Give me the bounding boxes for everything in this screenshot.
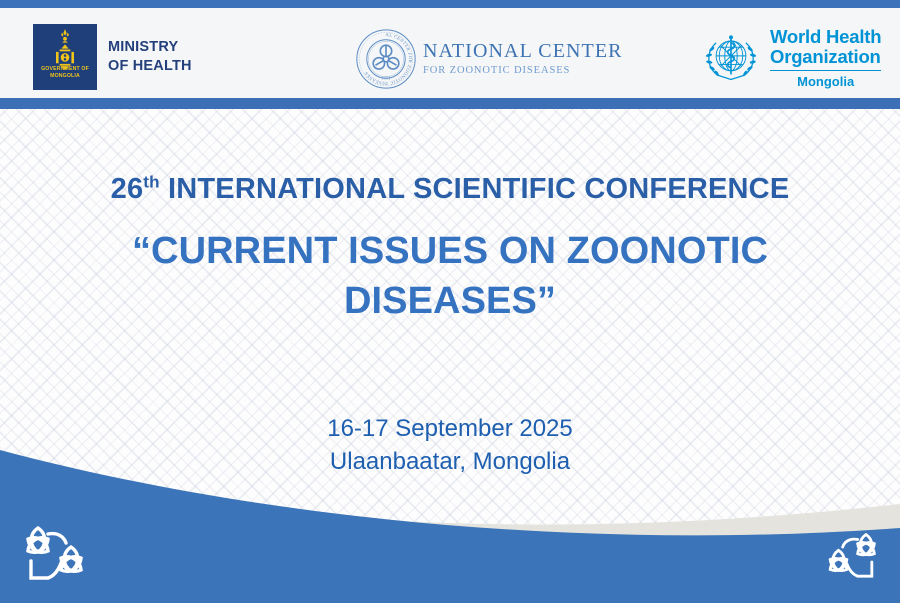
who-country-label: Mongolia — [770, 74, 881, 89]
national-center-logo: NATIONAL CENTER FOR ZOONOTIC DISEASES 19… — [355, 28, 623, 90]
mongolian-knot-ornament-right — [816, 528, 886, 586]
conference-title-text: INTERNATIONAL SCIENTIFIC CONFERENCE — [160, 173, 790, 205]
who-name-block: World Health Organization Mongolia — [770, 27, 881, 89]
ministry-name-line2: OF HEALTH — [108, 57, 192, 76]
header-accent-bar — [0, 98, 900, 109]
headline-block: 26th INTERNATIONAL SCIENTIFIC CONFERENCE… — [0, 173, 900, 326]
who-logo: World Health Organization Mongolia — [700, 27, 881, 90]
national-center-line1: NATIONAL CENTER — [423, 41, 623, 61]
national-center-line2: FOR ZOONOTIC DISEASES — [423, 66, 623, 77]
ministry-name-line1: MINISTRY — [108, 38, 192, 57]
logo-row: GOVERNMENT OF MONGOLIA MINISTRY OF HEALT… — [0, 8, 900, 98]
conference-ordinal: th — [143, 172, 159, 191]
who-divider — [770, 70, 881, 71]
mongolia-government-emblem: GOVERNMENT OF MONGOLIA — [33, 24, 97, 90]
who-name-line1: World Health — [770, 27, 881, 47]
ministry-of-health-name: MINISTRY OF HEALTH — [108, 38, 192, 76]
mongolian-knot-ornament-left — [14, 521, 98, 589]
theme-line2: DISEASES” — [0, 276, 900, 326]
who-un-emblem-icon — [700, 28, 762, 90]
emblem-caption-line1: GOVERNMENT OF — [33, 66, 97, 73]
conference-theme: “CURRENT ISSUES ON ZOONOTIC DISEASES” — [0, 226, 900, 326]
theme-line1: “CURRENT ISSUES ON ZOONOTIC — [0, 226, 900, 276]
emblem-caption-line2: MONGOLIA — [33, 73, 97, 80]
national-center-name: NATIONAL CENTER FOR ZOONOTIC DISEASES — [423, 41, 623, 77]
ministry-of-health-logo: GOVERNMENT OF MONGOLIA MINISTRY OF HEALT… — [33, 24, 192, 90]
bottom-wave-decoration — [0, 430, 900, 603]
conference-number: 26 — [111, 173, 144, 205]
conference-title-slide: GOVERNMENT OF MONGOLIA MINISTRY OF HEALT… — [0, 0, 900, 603]
emblem-caption: GOVERNMENT OF MONGOLIA — [33, 66, 97, 80]
top-accent-bar — [0, 0, 900, 8]
biohazard-seal-icon: NATIONAL CENTER FOR ZOONOTIC DISEASES 19… — [355, 28, 417, 90]
who-name-line2: Organization — [770, 47, 881, 67]
svg-text:1951: 1951 — [381, 75, 390, 80]
conference-heading: 26th INTERNATIONAL SCIENTIFIC CONFERENCE — [0, 173, 900, 206]
soyombo-icon — [33, 27, 97, 71]
